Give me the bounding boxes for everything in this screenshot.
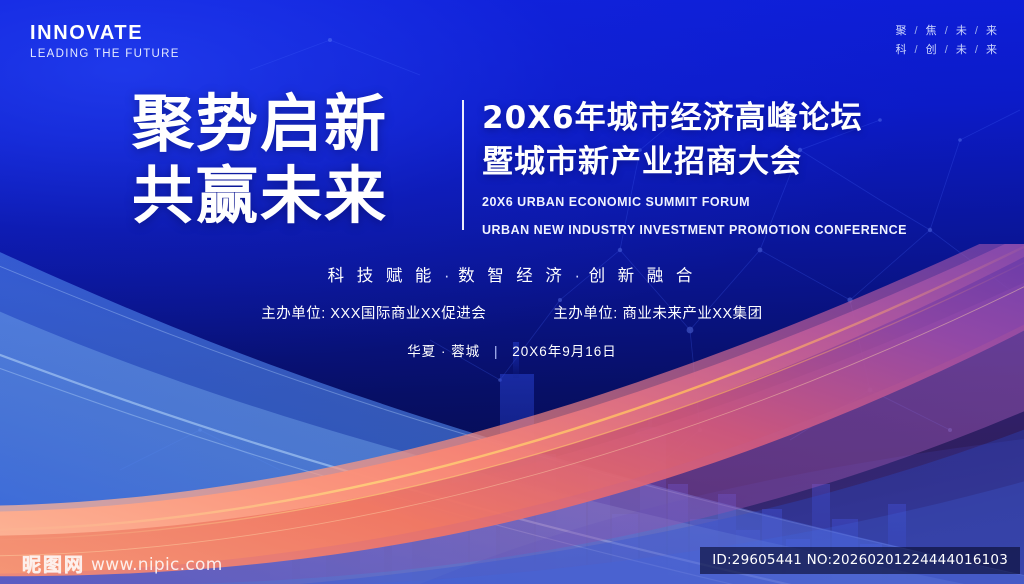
corner-tag-char: 未 <box>956 25 968 37</box>
corner-tag-separator: / <box>945 25 949 37</box>
tagline-dot-1: · <box>444 267 450 285</box>
corner-tag-separator: / <box>915 44 919 56</box>
corner-tag-separator: / <box>915 25 919 37</box>
title-cn-line-1: 20X6年城市经济高峰论坛 <box>482 96 907 140</box>
logo-main-text: INNOVATE <box>30 23 180 43</box>
corner-tag-char: 科 <box>895 44 907 56</box>
watermark-url: www.nipic.com <box>91 554 223 576</box>
corner-tag-line-2: 科 / 创 / 未 / 来 <box>895 41 998 60</box>
headline-line-2: 共赢未来 <box>132 160 388 232</box>
poster-canvas: INNOVATE LEADING THE FUTURE 聚 / 焦 / 未 / … <box>0 0 1024 584</box>
corner-tag-char: 聚 <box>895 25 907 37</box>
corner-keyword-tags: 聚 / 焦 / 未 / 来 科 / 创 / 未 / 来 <box>895 22 998 60</box>
tagline-part-1: 科 技 赋 能 <box>328 267 436 285</box>
corner-tag-char: 焦 <box>926 25 938 37</box>
brand-logo: INNOVATE LEADING THE FUTURE <box>30 23 180 61</box>
tagline-part-2: 数 智 经 济 <box>458 267 566 285</box>
watermark-logo-char: 昵 <box>22 554 41 576</box>
main-headline: 聚势启新 共赢未来 <box>132 88 388 232</box>
corner-tag-char: 创 <box>926 44 938 56</box>
tagline-part-3: 创 新 融 合 <box>589 267 697 285</box>
ribbon-swoosh-decoration <box>0 244 1024 584</box>
site-watermark: 昵 图 网 www.nipic.com <box>22 554 223 576</box>
headline-line-1: 聚势启新 <box>132 88 388 160</box>
corner-tag-separator: / <box>975 44 979 56</box>
venue-place: 华夏 · 蓉城 <box>407 344 480 359</box>
corner-tag-char: 来 <box>986 44 998 56</box>
corner-tag-char: 未 <box>956 44 968 56</box>
headline-divider <box>462 100 464 230</box>
venue-divider: | <box>494 344 499 359</box>
title-en-line-1: 20X6 URBAN ECONOMIC SUMMIT FORUM <box>482 193 907 212</box>
watermark-logo: 昵 图 网 <box>22 554 83 576</box>
event-tagline: 科 技 赋 能 · 数 智 经 济 · 创 新 融 合 <box>0 262 1024 286</box>
title-en-line-2: URBAN NEW INDUSTRY INVESTMENT PROMOTION … <box>482 221 907 240</box>
corner-tag-separator: / <box>945 44 949 56</box>
corner-tag-separator: / <box>975 25 979 37</box>
organizer-left: 主办单位: XXX国际商业XX促进会 <box>261 302 486 323</box>
corner-tag-char: 来 <box>986 25 998 37</box>
title-cn-line-2: 暨城市新产业招商大会 <box>482 140 907 184</box>
tagline-dot-2: · <box>574 267 580 285</box>
logo-tagline-text: LEADING THE FUTURE <box>30 49 180 61</box>
event-title-block: 20X6年城市经济高峰论坛 暨城市新产业招商大会 20X6 URBAN ECON… <box>482 96 907 240</box>
watermark-logo-char: 网 <box>64 554 83 576</box>
venue-date-row: 华夏 · 蓉城 | 20X6年9月16日 <box>0 340 1024 360</box>
venue-date: 20X6年9月16日 <box>512 344 617 359</box>
asset-id-label: ID:29605441 NO:20260201224444016103 <box>700 547 1020 574</box>
organizer-row: 主办单位: XXX国际商业XX促进会 主办单位: 商业未来产业XX集团 <box>0 302 1024 323</box>
watermark-logo-char: 图 <box>43 554 62 576</box>
corner-tag-line-1: 聚 / 焦 / 未 / 来 <box>895 22 998 41</box>
organizer-right: 主办单位: 商业未来产业XX集团 <box>553 302 762 323</box>
